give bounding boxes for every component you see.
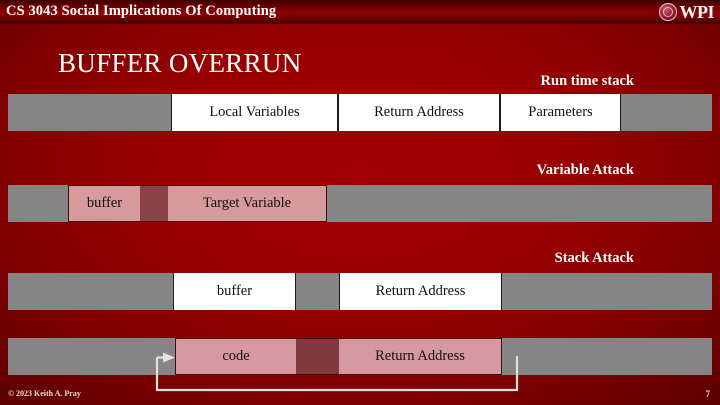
page-title: BUFFER OVERRUN xyxy=(58,48,302,79)
memory-segment-overflow xyxy=(296,338,339,375)
footer-page-number: 7 xyxy=(706,389,711,399)
memory-row-run-time-stack: Local Variables Return Address Parameter… xyxy=(8,94,712,131)
memory-segment-empty xyxy=(8,273,173,310)
memory-row-exploited-stack: code Return Address xyxy=(8,338,712,375)
caption-run-time-stack: Run time stack xyxy=(541,73,634,90)
memory-segment-buffer: buffer xyxy=(68,185,140,222)
memory-row-variable-attack: buffer Target Variable xyxy=(8,185,712,222)
memory-segment-target-variable: Target Variable xyxy=(168,185,327,222)
memory-segment-empty xyxy=(8,338,175,375)
wpi-logo: WPI xyxy=(659,1,715,22)
memory-segment-empty xyxy=(502,273,712,310)
caption-variable-attack: Variable Attack xyxy=(537,162,634,179)
wpi-logo-text: WPI xyxy=(680,3,715,21)
slide-banner: CS 3043 Social Implications Of Computing… xyxy=(0,0,720,24)
wpi-seal-icon xyxy=(659,3,677,21)
caption-stack-attack: Stack Attack xyxy=(555,250,634,267)
footer-copyright: © 2023 Keith A. Pray xyxy=(8,389,81,398)
memory-segment-return-address: Return Address xyxy=(339,338,502,375)
memory-segment-empty xyxy=(327,185,712,222)
memory-row-stack-attack: buffer Return Address xyxy=(8,273,712,310)
memory-segment-empty xyxy=(621,94,712,131)
memory-segment-empty xyxy=(502,338,712,375)
memory-segment-overflow xyxy=(140,185,168,222)
memory-segment-local-variables: Local Variables xyxy=(171,94,338,131)
memory-segment-empty xyxy=(8,185,68,222)
memory-segment-return-address: Return Address xyxy=(338,94,500,131)
memory-segment-parameters: Parameters xyxy=(500,94,621,131)
memory-segment-empty xyxy=(8,94,171,131)
slide-canvas: CS 3043 Social Implications Of Computing… xyxy=(0,0,720,405)
memory-segment-return-address: Return Address xyxy=(339,273,502,310)
course-title: CS 3043 Social Implications Of Computing xyxy=(6,3,276,20)
memory-segment-code: code xyxy=(175,338,296,375)
memory-segment-gap xyxy=(296,273,339,310)
memory-segment-buffer: buffer xyxy=(173,273,296,310)
